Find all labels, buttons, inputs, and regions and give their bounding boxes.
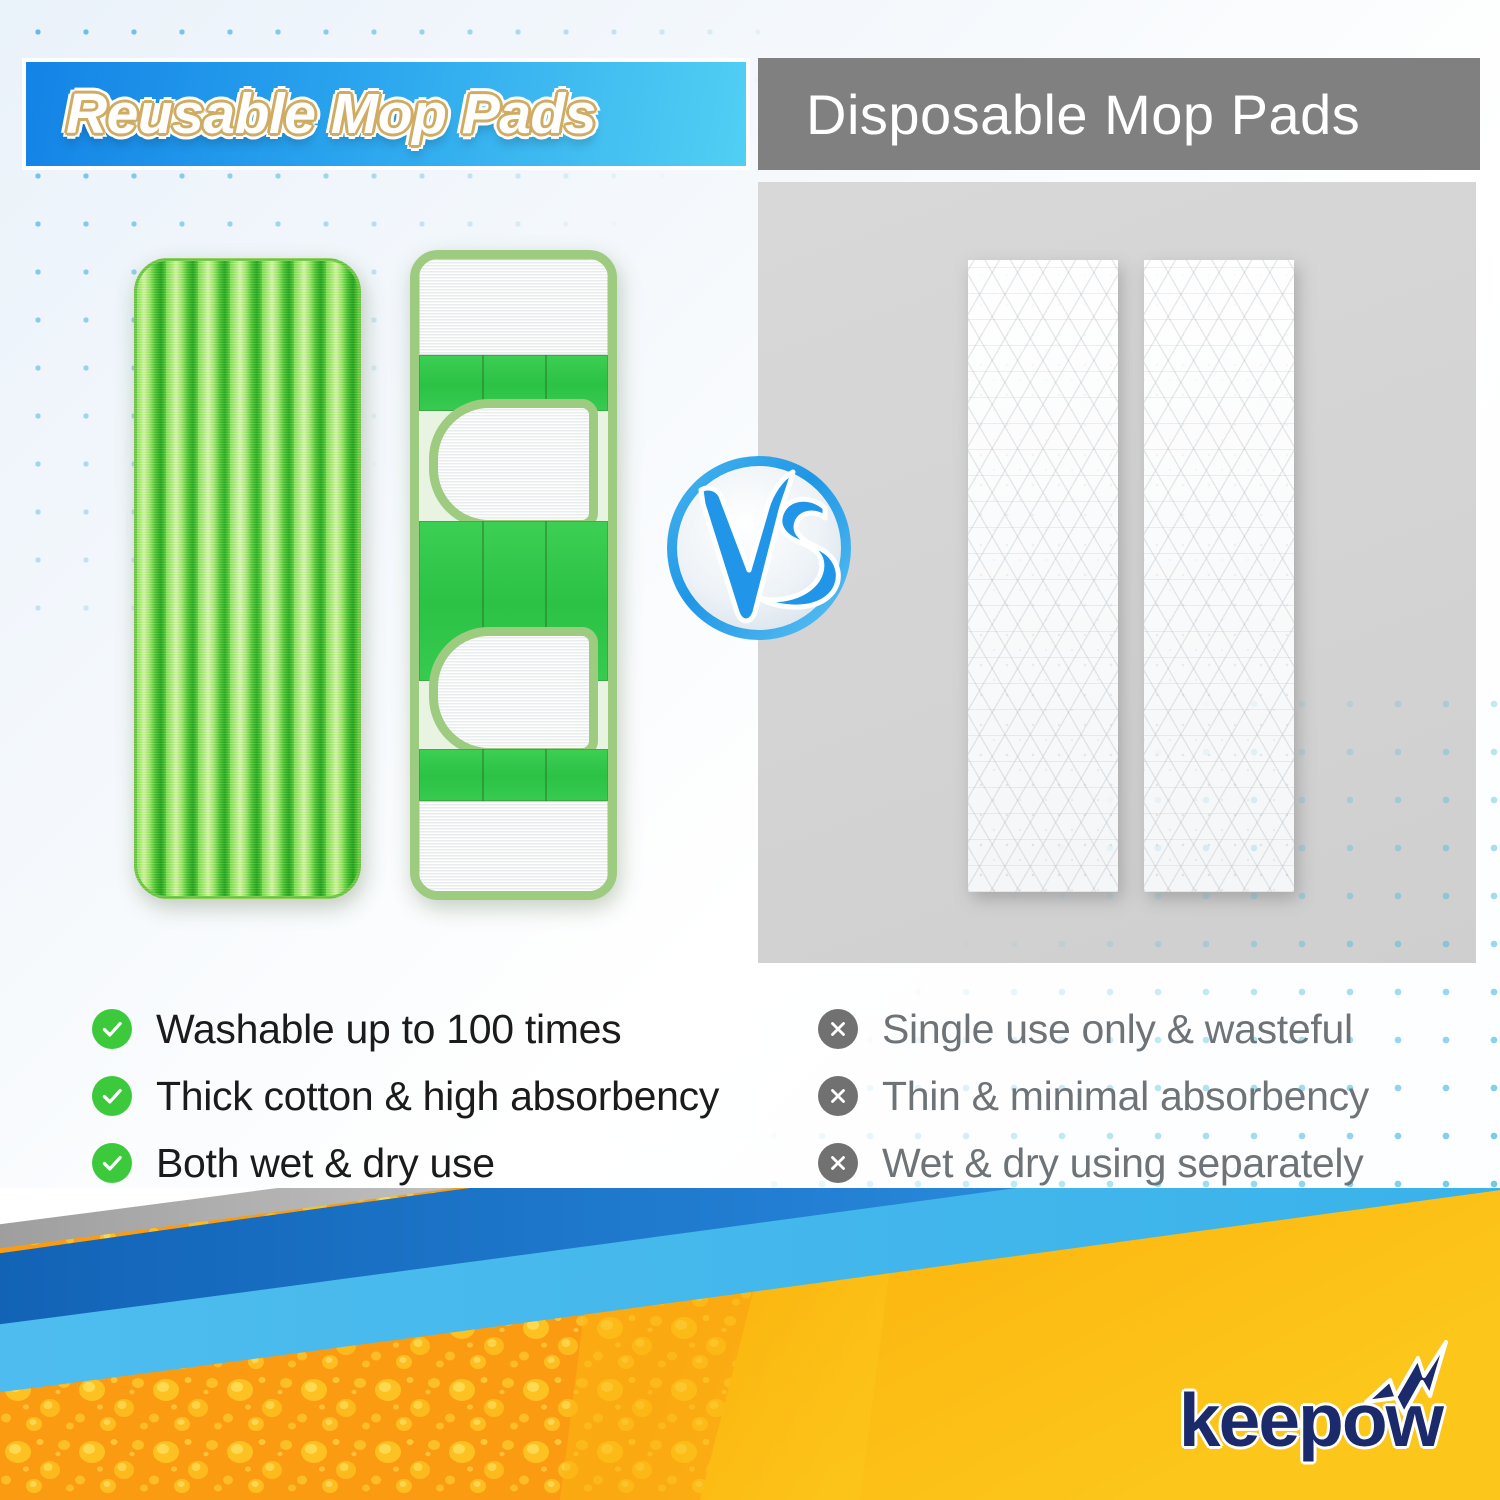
list-item: Wet & dry using separately (818, 1134, 1478, 1192)
lightning-bolt-icon (1360, 1340, 1452, 1426)
list-item-label: Thin & minimal absorbency (882, 1073, 1369, 1120)
list-item-label: Thick cotton & high absorbency (156, 1073, 719, 1120)
footer-band: keepow (0, 1188, 1500, 1500)
disposable-mop-pad-1 (968, 260, 1118, 892)
disposable-product-stage (758, 182, 1480, 967)
check-circle-icon (92, 1076, 132, 1116)
list-item: Thin & minimal absorbency (818, 1067, 1478, 1125)
list-item: Single use only & wasteful (818, 1000, 1478, 1058)
velcro-strip-bottom (419, 801, 608, 897)
green-microfiber-mop-pad-back (410, 250, 617, 900)
list-item-label: Washable up to 100 times (156, 1006, 621, 1053)
x-circle-icon (818, 1143, 858, 1183)
velcro-strip (419, 259, 608, 355)
x-circle-icon (818, 1009, 858, 1049)
list-item: Washable up to 100 times (92, 1000, 782, 1058)
list-item: Thick cotton & high absorbency (92, 1067, 782, 1125)
check-circle-icon (92, 1009, 132, 1049)
reusable-header-banner: Reusable Mop Pads (22, 58, 750, 170)
vs-badge-icon (663, 452, 855, 644)
pocket-flap-top (429, 399, 598, 529)
pocket-flap-bottom (429, 627, 598, 757)
disposable-mop-pad-2 (1144, 260, 1294, 892)
reusable-header-title: Reusable Mop Pads (66, 81, 596, 147)
list-item-label: Single use only & wasteful (882, 1006, 1353, 1053)
list-item: Both wet & dry use (92, 1134, 782, 1192)
disposable-header-title: Disposable Mop Pads (806, 82, 1360, 147)
list-item-label: Both wet & dry use (156, 1140, 495, 1187)
infographic-canvas: Reusable Mop Pads Disposable Mop Pads (0, 0, 1500, 1500)
green-band-lower (419, 749, 608, 801)
list-item-label: Wet & dry using separately (882, 1140, 1363, 1187)
disposable-header-banner: Disposable Mop Pads (758, 58, 1480, 170)
reusable-product-stage (22, 182, 750, 967)
x-circle-icon (818, 1076, 858, 1116)
check-circle-icon (92, 1143, 132, 1183)
green-microfiber-mop-pad-front (134, 258, 361, 899)
